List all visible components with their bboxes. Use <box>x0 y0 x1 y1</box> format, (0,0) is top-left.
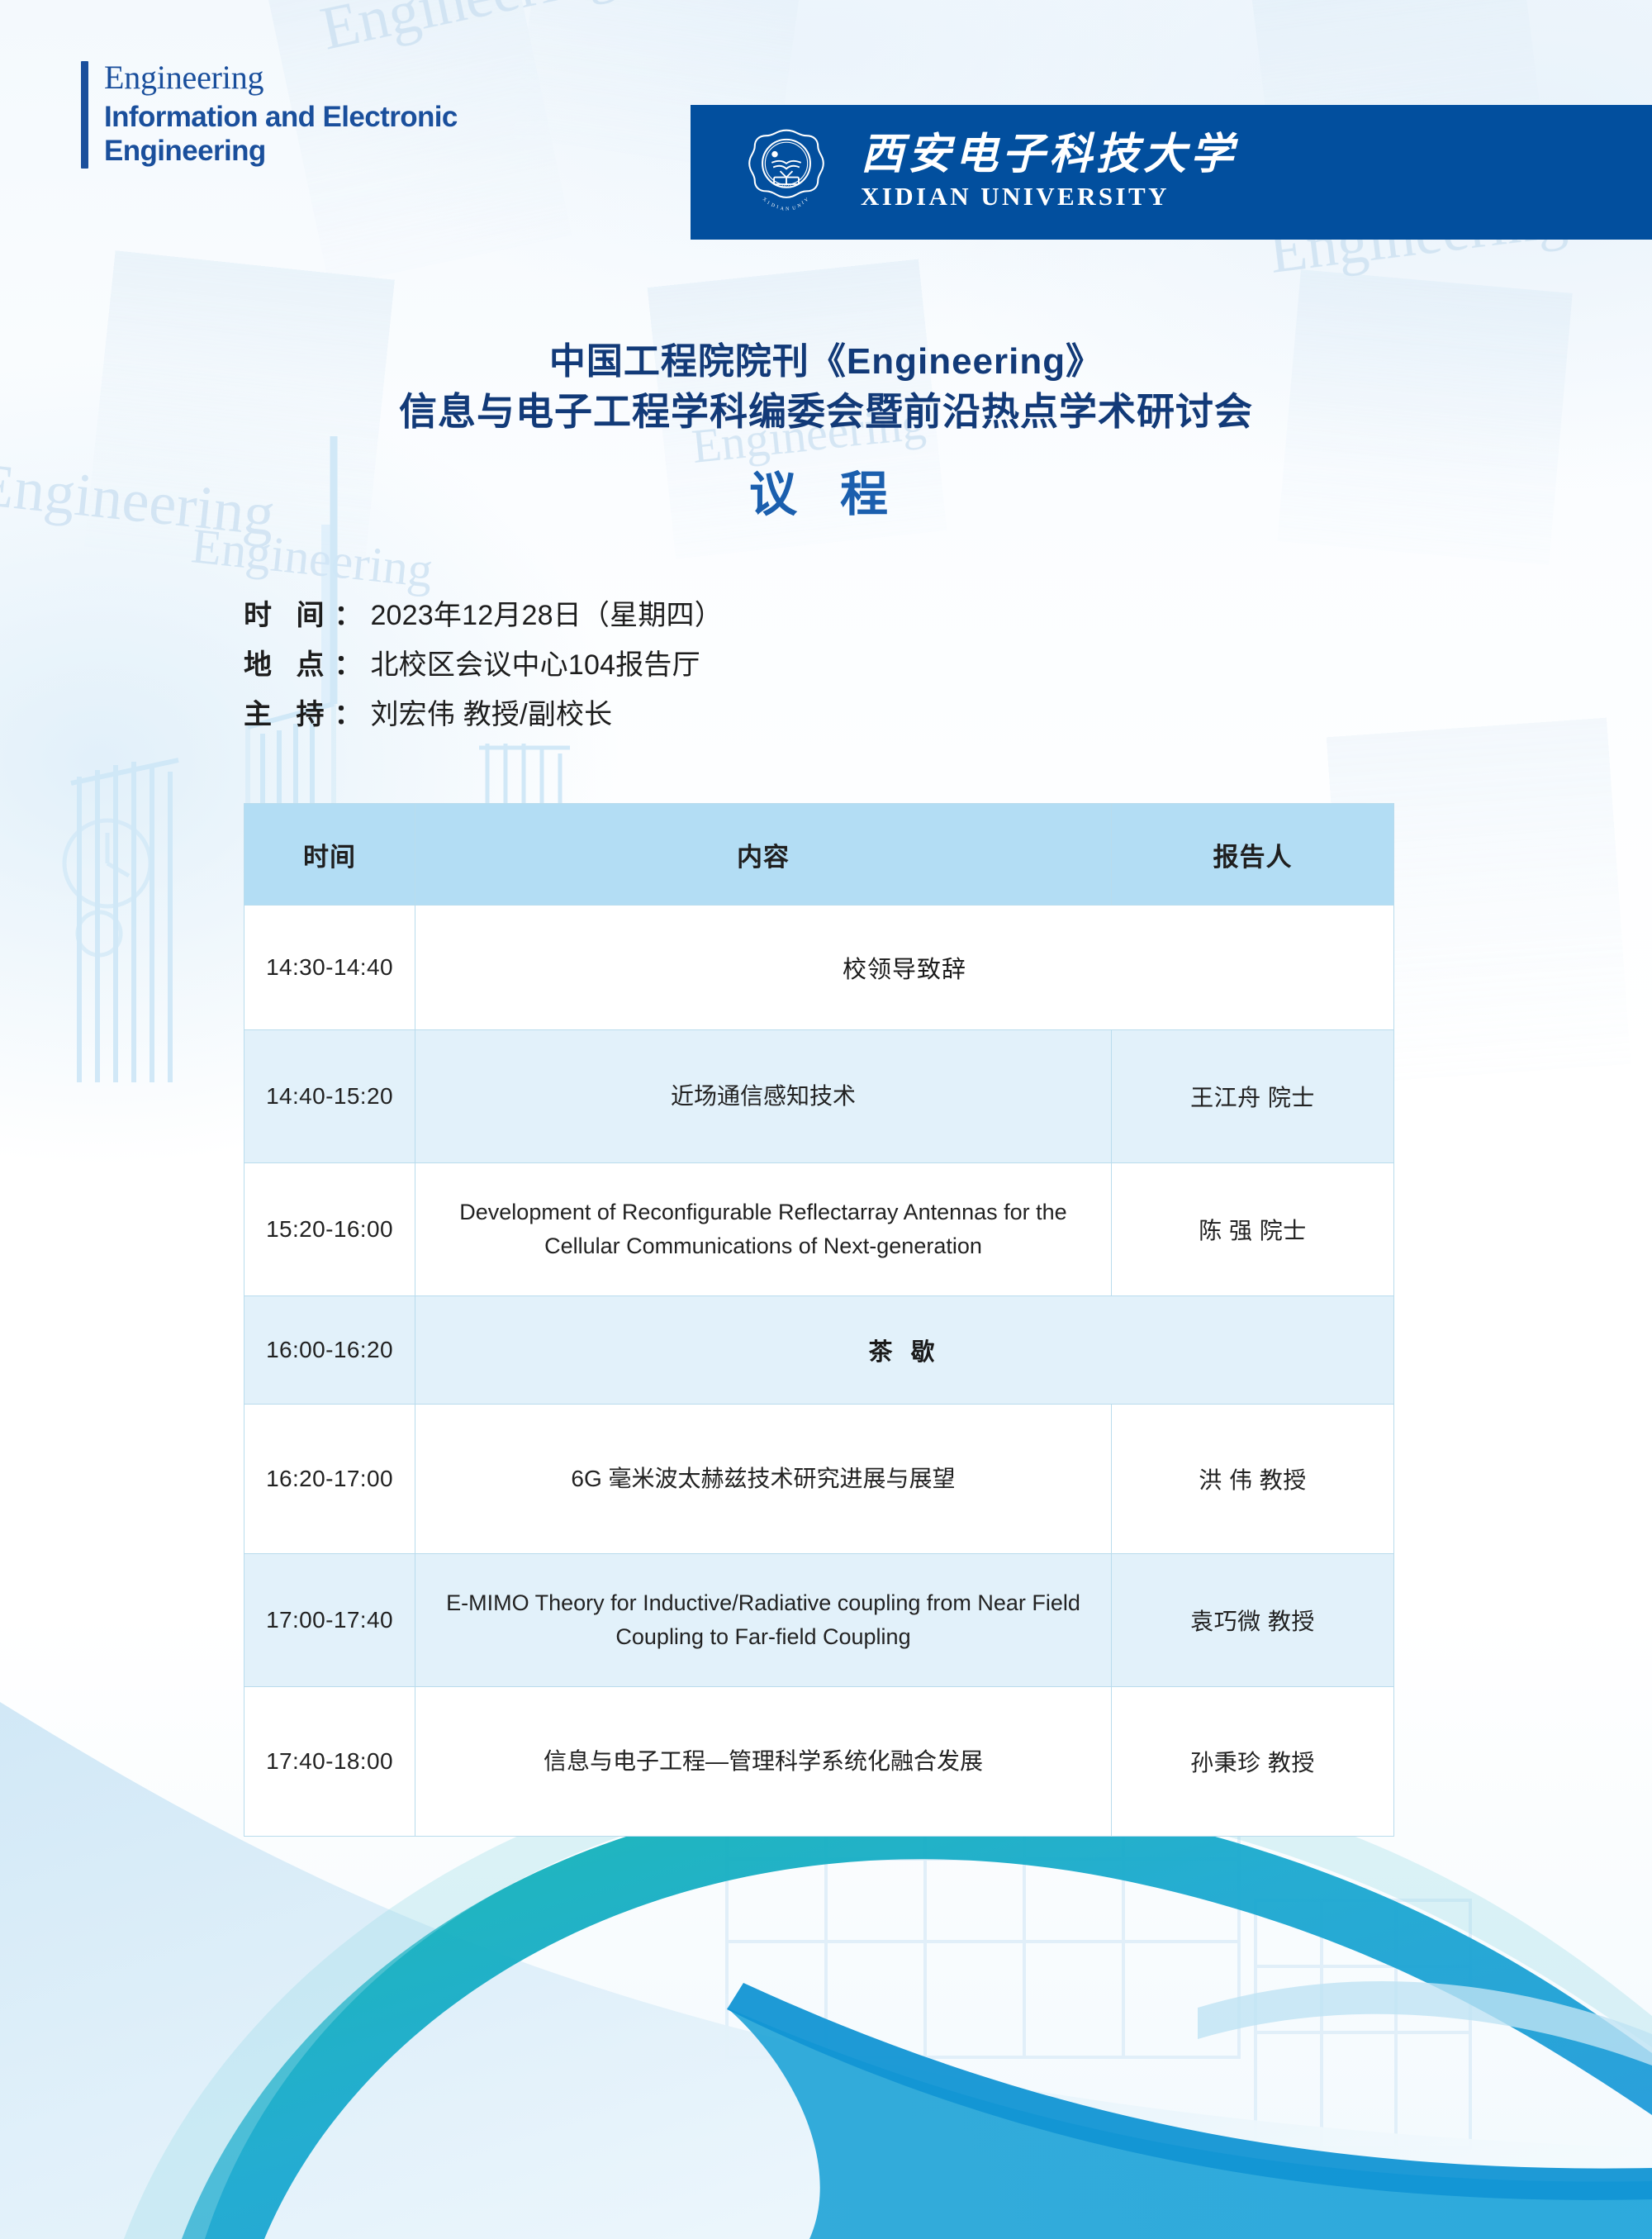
column-header-time: 时间 <box>244 804 415 906</box>
agenda-table-header-row: 时间 内容 报告人 <box>244 804 1394 906</box>
meta-label: 地 点 <box>244 651 332 679</box>
agenda-cell-topic: 6G 毫米波太赫兹技术研究进展与展望 <box>415 1405 1112 1554</box>
svg-text:I: I <box>767 200 771 205</box>
agenda-cell-speaker: 洪 伟 教授 <box>1112 1405 1394 1554</box>
journal-title-sub-line1: Information and Electronic <box>104 100 458 134</box>
university-name-group: 西安电子科技大学 XIDIAN UNIVERSITY <box>861 133 1237 212</box>
meta-colon: ： <box>334 601 362 630</box>
agenda-poster: Engineering Engineering Engineering Engi… <box>0 0 1652 2239</box>
agenda-cell-time: 16:20-17:00 <box>244 1405 415 1554</box>
agenda-cell-time: 16:00-16:20 <box>244 1296 415 1405</box>
svg-text:D: D <box>771 202 776 208</box>
meta-colon: ： <box>334 701 362 729</box>
agenda-table-head: 时间 内容 报告人 <box>244 804 1394 906</box>
svg-text:I: I <box>801 200 805 205</box>
agenda-cell-time: 15:20-16:00 <box>244 1163 415 1296</box>
agenda-table: 时间 内容 报告人 14:30-14:40校领导致辞14:40-15:20近场通… <box>244 803 1394 1837</box>
agenda-row: 16:00-16:20茶 歇 <box>244 1296 1394 1405</box>
meta-label: 主 持 <box>244 701 332 729</box>
agenda-row: 14:30-14:40校领导致辞 <box>244 906 1394 1030</box>
agenda-cell-topic: 信息与电子工程—管理科学系统化融合发展 <box>415 1687 1112 1837</box>
agenda-row: 14:40-15:20近场通信感知技术王江舟 院士 <box>244 1030 1394 1163</box>
journal-title-sub-line2: Engineering <box>104 134 458 168</box>
agenda-cell-speaker: 孙秉珍 教授 <box>1112 1687 1394 1837</box>
agenda-heading: 议 程 <box>0 455 1652 525</box>
agenda-cell-topic: 茶 歇 <box>415 1296 1394 1405</box>
journal-logo-text: Engineering Information and Electronic E… <box>104 61 458 169</box>
agenda-cell-speaker: 王江舟 院士 <box>1112 1030 1394 1163</box>
meta-label: 时 间 <box>244 601 332 630</box>
svg-text:U: U <box>792 206 797 212</box>
agenda-table-body: 14:30-14:40校领导致辞14:40-15:20近场通信感知技术王江舟 院… <box>244 906 1394 1837</box>
page-title-block: 中国工程院院刊《Engineering》 信息与电子工程学科编委会暨前沿热点学术… <box>0 337 1652 525</box>
page-title-line1: 中国工程院院刊《Engineering》 <box>0 337 1652 386</box>
agenda-cell-speaker: 陈 强 院士 <box>1112 1163 1394 1296</box>
agenda-row: 17:40-18:00信息与电子工程—管理科学系统化融合发展孙秉珍 教授 <box>244 1687 1394 1837</box>
agenda-cell-topic: 校领导致辞 <box>415 906 1394 1030</box>
university-banner: 1931 X I D I A N U N I V 西安电子科技大学 XIDIAN… <box>691 105 1652 240</box>
page-title-line2: 信息与电子工程学科编委会暨前沿热点学术研讨会 <box>0 386 1652 437</box>
meta-row: 地 点：北校区会议中心104报告厅 <box>244 651 723 679</box>
meta-info-block: 时 间：2023年12月28日（星期四）地 点：北校区会议中心104报告厅主 持… <box>244 601 723 750</box>
agenda-cell-time: 14:30-14:40 <box>244 906 415 1030</box>
meta-value: 2023年12月28日（星期四） <box>370 601 722 630</box>
meta-row: 主 持：刘宏伟 教授/副校长 <box>244 701 723 729</box>
journal-title-main: Engineering <box>104 61 458 94</box>
agenda-cell-speaker: 袁巧微 教授 <box>1112 1554 1394 1687</box>
agenda-cell-time: 14:40-15:20 <box>244 1030 415 1163</box>
meta-colon: ： <box>334 651 362 679</box>
svg-text:A: A <box>780 206 785 212</box>
svg-text:N: N <box>786 207 790 212</box>
agenda-row: 16:20-17:006G 毫米波太赫兹技术研究进展与展望洪 伟 教授 <box>244 1405 1394 1554</box>
xidian-university-emblem-icon: 1931 X I D I A N U N I V <box>740 126 833 219</box>
meta-row: 时 间：2023年12月28日（星期四） <box>244 601 723 630</box>
meta-value: 刘宏伟 教授/副校长 <box>370 701 612 729</box>
agenda-cell-topic: Development of Reconfigurable Reflectarr… <box>415 1163 1112 1296</box>
svg-text:I: I <box>776 205 778 210</box>
agenda-cell-topic: E-MIMO Theory for Inductive/Radiative co… <box>415 1554 1112 1687</box>
emblem-year: 1931 <box>781 183 791 189</box>
university-name-en: XIDIAN UNIVERSITY <box>861 182 1237 212</box>
svg-text:V: V <box>804 197 809 203</box>
agenda-row: 15:20-16:00Development of Reconfigurable… <box>244 1163 1394 1296</box>
column-header-speaker: 报告人 <box>1112 804 1394 906</box>
column-header-topic: 内容 <box>415 804 1112 906</box>
journal-logo: Engineering Information and Electronic E… <box>81 61 458 169</box>
agenda-row: 17:00-17:40E-MIMO Theory for Inductive/R… <box>244 1554 1394 1687</box>
meta-value: 北校区会议中心104报告厅 <box>370 651 700 679</box>
agenda-cell-topic: 近场通信感知技术 <box>415 1030 1112 1163</box>
agenda-cell-time: 17:40-18:00 <box>244 1687 415 1837</box>
agenda-cell-time: 17:00-17:40 <box>244 1554 415 1687</box>
journal-logo-bar <box>81 61 88 169</box>
university-name-cn: 西安电子科技大学 <box>861 133 1237 178</box>
